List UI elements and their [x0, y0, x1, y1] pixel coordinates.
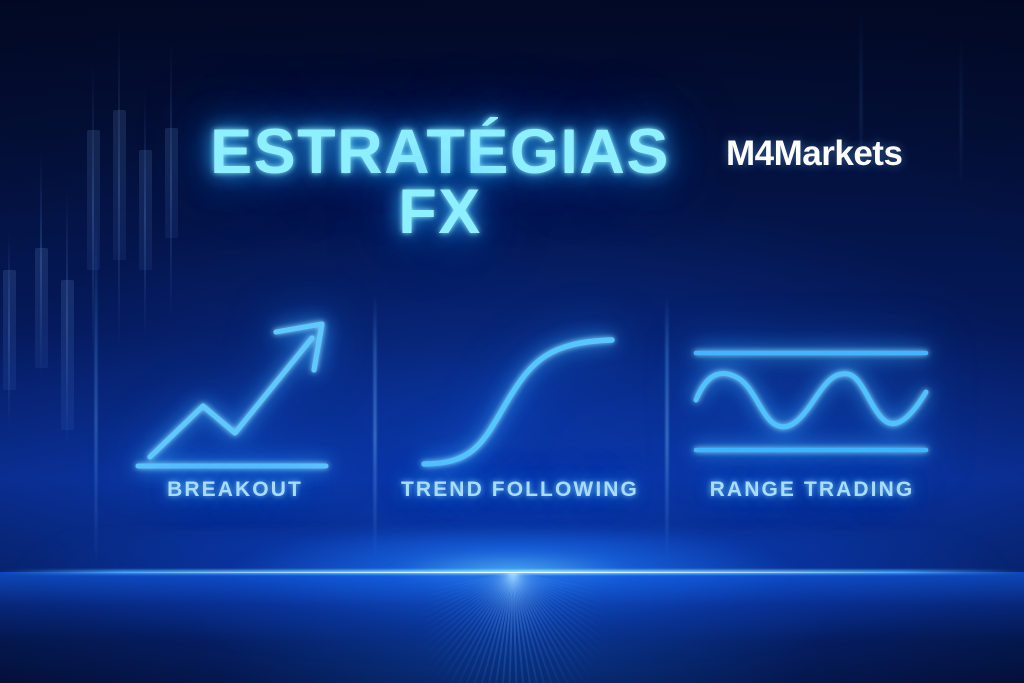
- rising-arrow-breakout-icon: [100, 290, 370, 490]
- page-title: ESTRATÉGIAS FX: [160, 122, 720, 243]
- s-curve-trend-icon: [380, 290, 660, 490]
- panel-label-range-trading: RANGE TRADING: [672, 478, 952, 502]
- strategy-panel-group: BREAKOUT TREND FOLLOWING RANGE TRADING: [0, 290, 1024, 535]
- panel-divider: [374, 294, 376, 556]
- horizon-line-core: [61, 572, 962, 574]
- panel-label-trend-following: TREND FOLLOWING: [380, 478, 660, 502]
- strategy-panel-breakout[interactable]: BREAKOUT: [100, 290, 370, 535]
- brand-logo: M4Markets: [726, 134, 902, 174]
- strategy-panel-trend-following[interactable]: TREND FOLLOWING: [380, 290, 660, 535]
- strategy-panel-range-trading[interactable]: RANGE TRADING: [672, 290, 952, 535]
- sine-wave-range-icon: [672, 290, 952, 490]
- panel-divider: [666, 294, 668, 556]
- perspective-floor: [0, 572, 1024, 683]
- poster-canvas: ESTRATÉGIAS FX M4Markets BREAKOUT TREND …: [0, 0, 1024, 683]
- panel-label-breakout: BREAKOUT: [100, 478, 370, 502]
